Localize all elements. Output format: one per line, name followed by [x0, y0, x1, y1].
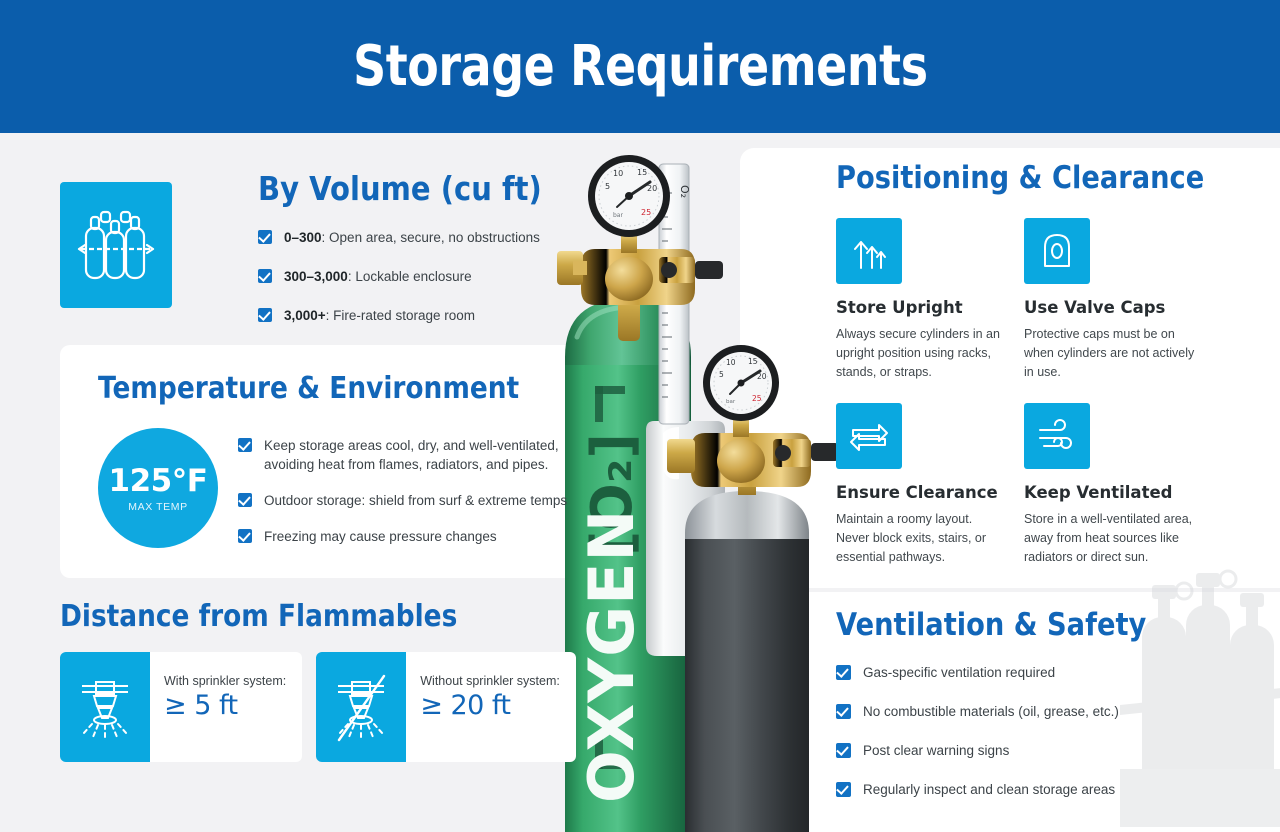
list-item: 300–3,000: Lockable enclosure: [258, 267, 588, 286]
item-text: Gas-specific ventilation required: [863, 663, 1055, 682]
item-text: Post clear warning signs: [863, 741, 1009, 760]
section-ventilation: Ventilation & Safety Gas-specific ventil…: [836, 610, 1236, 800]
checkbox-icon: [258, 230, 272, 244]
infographic-page: Storage Requirements: [0, 0, 1280, 832]
list-item: Post clear warning signs: [836, 741, 1236, 760]
ventilation-title: Ventilation & Safety: [836, 610, 1188, 641]
by-volume-title: By Volume (cu ft): [258, 172, 542, 205]
list-item: Freezing may cause pressure changes: [238, 527, 568, 546]
feature-body: Store in a well-ventilated area, away fr…: [1024, 510, 1196, 566]
svg-text:15: 15: [637, 168, 647, 177]
checkbox-icon: [238, 529, 252, 543]
checkbox-icon: [836, 665, 851, 680]
item-desc: : Open area, secure, no obstructions: [322, 230, 540, 245]
item-range: 300–3,000: [284, 269, 348, 284]
by-volume-list: 0–300: Open area, secure, no obstruction…: [258, 228, 588, 325]
feature-store-upright: Store Upright Always secure cylinders in…: [836, 218, 1024, 381]
feature-body: Always secure cylinders in an upright po…: [836, 325, 1008, 381]
item-text: Regularly inspect and clean storage area…: [863, 780, 1115, 799]
list-item: Outdoor storage: shield from surf & extr…: [238, 491, 568, 510]
item-text: No combustible materials (oil, grease, e…: [863, 702, 1119, 721]
flowmeter: O₂: [659, 164, 691, 424]
feature-body: Maintain a roomy layout. Never block exi…: [836, 510, 1008, 566]
checkbox-icon: [258, 269, 272, 283]
wind-icon: [1024, 403, 1090, 469]
max-temp-label: MAX TEMP: [128, 501, 187, 513]
distance-title: Distance from Flammables: [60, 602, 535, 632]
svg-text:10: 10: [613, 169, 623, 178]
svg-text:20: 20: [647, 184, 657, 193]
page-header: Storage Requirements: [0, 0, 1280, 133]
list-item: 3,000+: Fire-rated storage room: [258, 306, 588, 325]
list-item: Regularly inspect and clean storage area…: [836, 780, 1236, 799]
section-temperature: Temperature & Environment 125°F MAX TEMP…: [98, 374, 568, 548]
svg-text:10: 10: [726, 358, 736, 367]
clearance-arrows-icon: [836, 403, 902, 469]
item-text: Freezing may cause pressure changes: [264, 527, 497, 546]
distance-label: With sprinkler system:: [164, 674, 286, 688]
list-item: Gas-specific ventilation required: [836, 663, 1236, 682]
svg-text:5: 5: [719, 370, 724, 379]
checkbox-icon: [836, 782, 851, 797]
feature-valve-caps: Use Valve Caps Protective caps must be o…: [1024, 218, 1212, 381]
list-item: No combustible materials (oil, grease, e…: [836, 702, 1236, 721]
checkbox-icon: [238, 493, 252, 507]
list-item: Keep storage areas cool, dry, and well-v…: [238, 436, 568, 474]
upright-arrows-icon: [836, 218, 902, 284]
temperature-title: Temperature & Environment: [98, 374, 512, 404]
item-desc: : Fire-rated storage room: [326, 308, 475, 323]
svg-text:5: 5: [605, 182, 610, 191]
section-positioning: Positioning & Clearance Store Upright Al…: [836, 163, 1236, 567]
item-text: Outdoor storage: shield from surf & extr…: [264, 491, 567, 510]
max-temp-value: 125°F: [109, 463, 208, 499]
feature-body: Protective caps must be on when cylinder…: [1024, 325, 1196, 381]
ventilation-list: Gas-specific ventilation required No com…: [836, 663, 1236, 800]
item-text: Keep storage areas cool, dry, and well-v…: [264, 436, 568, 474]
section-distance: Distance from Flammables: [60, 602, 600, 762]
feature-heading: Ensure Clearance: [836, 483, 1024, 502]
feature-heading: Keep Ventilated: [1024, 483, 1212, 502]
svg-text:bar: bar: [726, 399, 736, 405]
sprinkler-icon: [60, 652, 150, 762]
checkbox-icon: [836, 704, 851, 719]
page-title: Storage Requirements: [353, 34, 928, 99]
checkbox-icon: [258, 308, 272, 322]
max-temp-badge: 125°F MAX TEMP: [98, 428, 218, 548]
valve-cap-icon: [1024, 218, 1090, 284]
svg-text:25: 25: [641, 208, 651, 217]
top-pressure-gauge: 5 10 15 20 25 bar: [588, 155, 670, 237]
svg-text:bar: bar: [613, 212, 623, 219]
distance-label: Without sprinkler system:: [420, 674, 560, 688]
humidifier-bottle: [646, 421, 725, 656]
positioning-title: Positioning & Clearance: [836, 163, 1188, 194]
feature-keep-ventilated: Keep Ventilated Store in a well-ventilat…: [1024, 403, 1212, 566]
svg-text:O₂: O₂: [678, 185, 691, 198]
feature-ensure-clearance: Ensure Clearance Maintain a roomy layout…: [836, 403, 1024, 566]
feature-heading: Use Valve Caps: [1024, 298, 1212, 317]
list-item: 0–300: Open area, secure, no obstruction…: [258, 228, 588, 247]
section-by-volume: By Volume (cu ft) 0–300: Open area, secu…: [60, 182, 560, 310]
distance-value: ≥ 5 ft: [164, 690, 286, 721]
distance-card-without-sprinkler: Without sprinkler system: ≥ 20 ft: [316, 652, 576, 762]
feature-heading: Store Upright: [836, 298, 1024, 317]
distance-value: ≥ 20 ft: [420, 690, 560, 721]
item-desc: : Lockable enclosure: [348, 269, 472, 284]
checkbox-icon: [238, 438, 252, 452]
item-range: 0–300: [284, 230, 322, 245]
chained-cylinders-icon: [60, 182, 172, 308]
no-sprinkler-icon: [316, 652, 406, 762]
temperature-list: Keep storage areas cool, dry, and well-v…: [238, 428, 568, 548]
checkbox-icon: [836, 743, 851, 758]
distance-card-with-sprinkler: With sprinkler system: ≥ 5 ft: [60, 652, 302, 762]
item-range: 3,000+: [284, 308, 326, 323]
